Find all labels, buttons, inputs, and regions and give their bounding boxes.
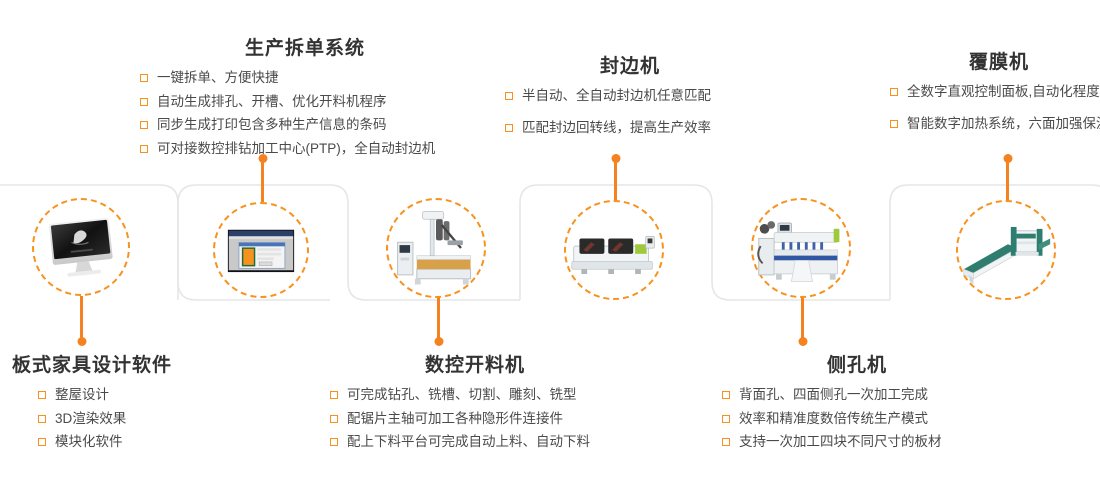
software-screen-icon bbox=[215, 204, 307, 296]
list-item: 3D渲染效果 bbox=[38, 412, 212, 427]
bullet-square-icon bbox=[722, 391, 730, 399]
list-item-label: 整屋设计 bbox=[55, 388, 109, 403]
connector-dot bbox=[1003, 154, 1012, 163]
list-item-label: 背面孔、四面侧孔一次加工完成 bbox=[739, 388, 928, 403]
list-item: 匹配封边回转线，提高生产效率 bbox=[505, 121, 755, 136]
imac-monitor-icon bbox=[34, 200, 128, 294]
block-title: 板式家具设计软件 bbox=[12, 355, 212, 378]
block-title: 封边机 bbox=[505, 56, 755, 79]
block-design-software: 板式家具设计软件 整屋设计 3D渲染效果 模块化软件 bbox=[12, 355, 212, 450]
bullet-square-icon bbox=[38, 391, 46, 399]
list-item-label: 可对接数控排钻加工中心(PTP)，全自动封边机 bbox=[157, 142, 435, 157]
block-title: 覆膜机 bbox=[878, 52, 1100, 75]
list-item: 自动生成排孔、开槽、优化开料机程序 bbox=[140, 95, 470, 110]
block-title: 生产拆单系统 bbox=[140, 38, 470, 61]
bullet-square-icon bbox=[722, 438, 730, 446]
node-splitting-system[interactable] bbox=[213, 202, 309, 298]
side-drilling-machine-icon bbox=[753, 200, 849, 296]
bullet-square-icon bbox=[505, 92, 513, 100]
list-item-label: 支持一次加工四块不同尺寸的板材 bbox=[739, 435, 942, 450]
node-edge-bander[interactable] bbox=[564, 200, 664, 300]
workflow-infographic: 生产拆单系统 一键拆单、方便快捷 自动生成排孔、开槽、优化开料机程序 同步生成打… bbox=[0, 0, 1100, 495]
bullet-square-icon bbox=[140, 98, 148, 106]
connector-splitting-system bbox=[261, 158, 264, 202]
bullet-square-icon bbox=[330, 415, 338, 423]
list-item-label: 一键拆单、方便快捷 bbox=[157, 71, 279, 86]
block-title: 侧孔机 bbox=[722, 355, 992, 378]
bullet-square-icon bbox=[140, 121, 148, 129]
list-item-label: 半自动、全自动封边机任意匹配 bbox=[522, 89, 711, 104]
list-item: 支持一次加工四块不同尺寸的板材 bbox=[722, 435, 992, 450]
list-item-label: 匹配封边回转线，提高生产效率 bbox=[522, 121, 711, 136]
connector-dot bbox=[611, 154, 620, 163]
bullet-square-icon bbox=[330, 391, 338, 399]
list-item: 智能数字加热系统，六面加强保温 bbox=[890, 117, 1100, 132]
list-item: 配锯片主轴可加工各种隐形件连接件 bbox=[330, 412, 620, 427]
list-item-label: 同步生成打印包含多种生产信息的条码 bbox=[157, 118, 387, 133]
list-item: 可对接数控排钻加工中心(PTP)，全自动封边机 bbox=[140, 142, 470, 157]
list-item: 可完成钻孔、铣槽、切割、雕刻、铣型 bbox=[330, 388, 620, 403]
list-item-label: 智能数字加热系统，六面加强保温 bbox=[907, 117, 1100, 132]
list-item: 全数字直观控制面板,自动化程度高 bbox=[890, 85, 1100, 100]
list-item: 同步生成打印包含多种生产信息的条码 bbox=[140, 118, 470, 133]
feature-list: 一键拆单、方便快捷 自动生成排孔、开槽、优化开料机程序 同步生成打印包含多种生产… bbox=[140, 71, 470, 157]
list-item: 模块化软件 bbox=[38, 435, 212, 450]
list-item: 半自动、全自动封边机任意匹配 bbox=[505, 89, 755, 104]
list-item-label: 全数字直观控制面板,自动化程度高 bbox=[907, 85, 1100, 100]
block-cnc-router: 数控开料机 可完成钻孔、铣槽、切割、雕刻、铣型 配锯片主轴可加工各种隐形件连接件… bbox=[330, 355, 620, 450]
list-item-label: 模块化软件 bbox=[55, 435, 123, 450]
block-title: 数控开料机 bbox=[330, 355, 620, 378]
block-side-hole-drill: 侧孔机 背面孔、四面侧孔一次加工完成 效率和精准度数倍传统生产模式 支持一次加工… bbox=[722, 355, 992, 450]
bullet-square-icon bbox=[890, 88, 898, 96]
node-laminating-machine[interactable] bbox=[956, 200, 1056, 300]
list-item-label: 配上下料平台可完成自动上料、自动下料 bbox=[347, 435, 590, 450]
list-item: 背面孔、四面侧孔一次加工完成 bbox=[722, 388, 992, 403]
bullet-square-icon bbox=[505, 124, 513, 132]
bullet-square-icon bbox=[38, 415, 46, 423]
bullet-square-icon bbox=[890, 120, 898, 128]
connector-design-software bbox=[80, 296, 83, 342]
bullet-square-icon bbox=[330, 438, 338, 446]
connector-side-hole-drill bbox=[801, 296, 804, 342]
feature-list: 背面孔、四面侧孔一次加工完成 效率和精准度数倍传统生产模式 支持一次加工四块不同… bbox=[722, 388, 992, 451]
node-design-software[interactable] bbox=[32, 198, 130, 296]
list-item: 一键拆单、方便快捷 bbox=[140, 71, 470, 86]
node-cnc-router[interactable] bbox=[386, 198, 486, 298]
cnc-router-machine-icon bbox=[388, 200, 484, 296]
block-splitting-system: 生产拆单系统 一键拆单、方便快捷 自动生成排孔、开槽、优化开料机程序 同步生成打… bbox=[140, 38, 470, 157]
block-edge-bander: 封边机 半自动、全自动封边机任意匹配 匹配封边回转线，提高生产效率 bbox=[505, 56, 755, 152]
list-item: 效率和精准度数倍传统生产模式 bbox=[722, 412, 992, 427]
feature-list: 可完成钻孔、铣槽、切割、雕刻、铣型 配锯片主轴可加工各种隐形件连接件 配上下料平… bbox=[330, 388, 620, 451]
block-laminating-machine: 覆膜机 全数字直观控制面板,自动化程度高 智能数字加热系统，六面加强保温 bbox=[890, 52, 1100, 148]
feature-list: 整屋设计 3D渲染效果 模块化软件 bbox=[38, 388, 212, 451]
list-item-label: 效率和精准度数倍传统生产模式 bbox=[739, 412, 928, 427]
bullet-square-icon bbox=[140, 74, 148, 82]
list-item: 配上下料平台可完成自动上料、自动下料 bbox=[330, 435, 620, 450]
bullet-square-icon bbox=[722, 415, 730, 423]
connector-cnc-router bbox=[437, 296, 440, 342]
node-side-hole-drill[interactable] bbox=[751, 198, 851, 298]
connector-dot bbox=[798, 337, 807, 346]
connector-dot bbox=[434, 337, 443, 346]
connector-edge-bander bbox=[614, 158, 617, 202]
laminating-machine-icon bbox=[958, 202, 1054, 298]
list-item-label: 可完成钻孔、铣槽、切割、雕刻、铣型 bbox=[347, 388, 577, 403]
list-item-label: 3D渲染效果 bbox=[55, 412, 126, 427]
feature-list: 半自动、全自动封边机任意匹配 匹配封边回转线，提高生产效率 bbox=[505, 89, 755, 136]
bullet-square-icon bbox=[140, 145, 148, 153]
feature-list: 全数字直观控制面板,自动化程度高 智能数字加热系统，六面加强保温 bbox=[890, 85, 1100, 132]
connector-dot bbox=[77, 337, 86, 346]
list-item-label: 自动生成排孔、开槽、优化开料机程序 bbox=[157, 95, 387, 110]
list-item: 整屋设计 bbox=[38, 388, 212, 403]
connector-laminating-machine bbox=[1006, 158, 1009, 202]
list-item-label: 配锯片主轴可加工各种隐形件连接件 bbox=[347, 412, 563, 427]
edge-banding-machine-icon bbox=[566, 202, 662, 298]
bullet-square-icon bbox=[38, 438, 46, 446]
